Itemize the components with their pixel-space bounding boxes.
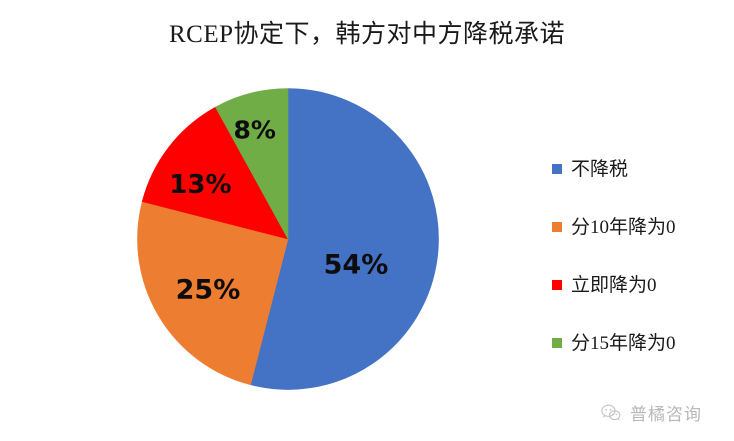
watermark: 普橘咨询 [600, 400, 702, 425]
legend-label-3: 分15年降为0 [571, 334, 676, 353]
legend-item-3[interactable]: 分15年降为0 [552, 314, 728, 372]
pie-chart-figure: RCEP协定下，韩方对中方降税承诺 54% 25% 13% 8% 不降税 分10… [0, 0, 734, 441]
chart-legend: 不降税 分10年降为0 立即降为0 分15年降为0 [552, 140, 728, 372]
legend-color-swatch-0 [552, 164, 562, 174]
legend-label-1: 分10年降为0 [571, 218, 676, 237]
legend-label-0: 不降税 [571, 160, 628, 179]
legend-color-swatch-1 [552, 222, 562, 232]
wechat-icon [600, 402, 622, 424]
pie-slices-group [138, 89, 439, 390]
watermark-text: 普橘咨询 [630, 400, 702, 425]
legend-item-1[interactable]: 分10年降为0 [552, 198, 728, 256]
legend-color-swatch-2 [552, 280, 562, 290]
legend-color-swatch-3 [552, 338, 562, 348]
pie-svg [137, 88, 439, 390]
chart-title: RCEP协定下，韩方对中方降税承诺 [0, 14, 734, 50]
pie-plot-area: 54% 25% 13% 8% [137, 88, 439, 390]
legend-item-2[interactable]: 立即降为0 [552, 256, 728, 314]
legend-label-2: 立即降为0 [571, 276, 657, 295]
legend-item-0[interactable]: 不降税 [552, 140, 728, 198]
